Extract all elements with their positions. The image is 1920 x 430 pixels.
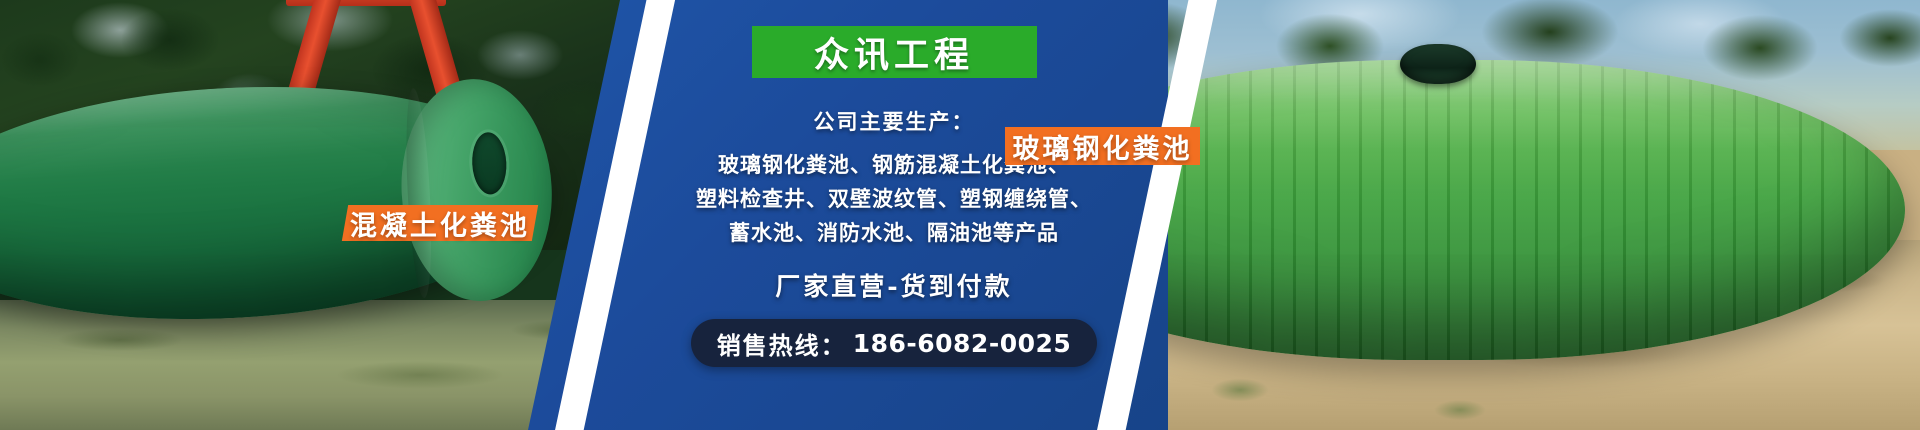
sales-hotline-pill[interactable]: 销售热线： 186-6082-0025	[691, 319, 1098, 367]
left-caption-text: 混凝土化粪池	[350, 204, 530, 243]
right-product-caption: 玻璃钢化粪池	[1005, 127, 1200, 165]
left-product-caption: 混凝土化粪池	[342, 205, 538, 241]
production-subheading: 公司主要生产：	[814, 106, 975, 136]
hotline-label: 销售热线：	[717, 326, 847, 361]
center-content-stack: 众讯工程 公司主要生产： 玻璃钢化粪池、钢筋混凝土化粪池、 塑料检查井、双壁波纹…	[620, 0, 1168, 430]
concrete-septic-tank	[0, 71, 556, 334]
product-line: 蓄水池、消防水池、隔油池等产品	[729, 217, 1059, 247]
product-line: 塑料检查井、双壁波纹管、塑钢缠绕管、	[696, 183, 1092, 213]
brand-title: 众讯工程	[814, 27, 974, 78]
brand-title-box: 众讯工程	[752, 26, 1037, 78]
sales-slogan: 厂家直营-货到付款	[775, 267, 1012, 303]
hotline-number[interactable]: 186-6082-0025	[853, 329, 1072, 358]
tank-manhole-neck-right	[1400, 44, 1476, 84]
promotional-banner: 众讯工程 公司主要生产： 玻璃钢化粪池、钢筋混凝土化粪池、 塑料检查井、双壁波纹…	[0, 0, 1920, 430]
